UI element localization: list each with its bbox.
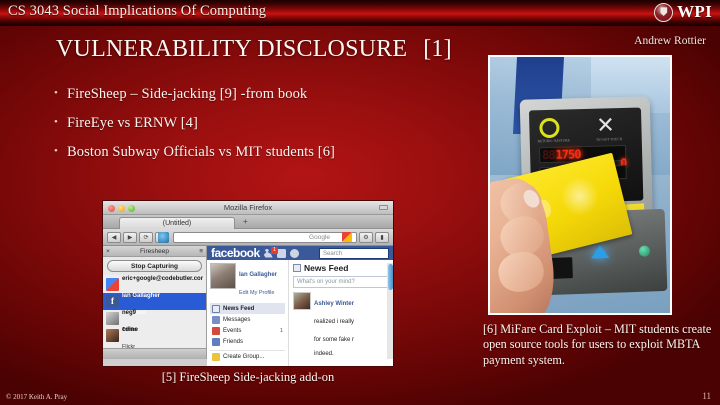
scrollbar: [387, 263, 393, 359]
bullet-dot-icon: •: [54, 117, 67, 128]
back-icon: ◀: [107, 232, 121, 243]
slide-number: 11: [702, 391, 711, 401]
list-item: cdine Flickr: [103, 327, 206, 344]
session-name: neg9: [122, 310, 136, 316]
news-feed-icon: [212, 305, 220, 313]
avatar: [293, 292, 311, 310]
yellow-circle-indicator-icon: [540, 118, 561, 139]
left-figure-caption: [5] FireSheep Side-jacking add-on: [102, 370, 394, 385]
firesheep-panel-title: Firesheep: [140, 248, 169, 255]
address-bar: Google: [173, 232, 357, 243]
feed-post: Ashley Winter realized i really for some…: [293, 292, 389, 346]
facebook-search-input: Search: [319, 248, 389, 259]
browser-tab: (Untitled): [119, 217, 235, 230]
bullet-dot-icon: •: [54, 146, 67, 157]
messages-icon: [277, 249, 286, 258]
reader-slot: [552, 257, 574, 279]
create-group-item: Create Group...: [210, 350, 285, 363]
post-line: for some fake r: [314, 337, 354, 343]
nav-item-friends: Friends: [210, 336, 285, 347]
facebook-feed: News Feed What's on your mind? Ashley Wi…: [289, 260, 393, 366]
facebook-left-nav: Ian Gallagher Edit My Profile News Feed …: [207, 260, 289, 366]
slide-title-text: VULNERABILITY DISCLOSURE: [56, 36, 407, 62]
list-item: • FireEye vs ERNW [4]: [54, 115, 474, 132]
firesheep-panel-footer: [103, 348, 206, 359]
flickr-avatar-icon: [106, 329, 119, 342]
blue-triangle-indicator-icon: [590, 245, 608, 259]
nav-item-events: Events 1: [210, 325, 285, 336]
firesheep-panel-header: × Firesheep ≡: [103, 246, 206, 257]
nav-label: News Feed: [223, 306, 254, 312]
firefox-statusbar: FoxyProxy: Disabled: [207, 366, 393, 367]
session-name: eric+google@codebutler.com: [122, 276, 203, 282]
gear-icon: ⚙: [359, 232, 373, 243]
bullet-text: Boston Subway Officials vs MIT students …: [67, 144, 335, 161]
nav-label: Friends: [223, 339, 243, 345]
finger: [495, 248, 547, 295]
nav-item-messages: Messages: [210, 314, 285, 325]
firesheep-session-list: eric+google@codebutler.com Google f Ian …: [103, 275, 206, 348]
close-icon: ×: [106, 246, 110, 257]
nav-label: Messages: [223, 317, 250, 323]
window-restore-icon: [379, 205, 388, 210]
facebook-top-bar: facebook 1 Search: [207, 246, 393, 260]
bullet-text: FireEye vs ERNW [4]: [67, 115, 198, 132]
course-title: CS 3043 Social Implications Of Computing: [8, 3, 266, 20]
bullet-text: FireSheep – Side-jacking [9] -from book: [67, 86, 307, 103]
news-feed-icon: [293, 264, 301, 272]
status-composer-input: What's on your mind?: [293, 276, 389, 288]
slide-title-reference: [1]: [423, 36, 452, 62]
google-icon: [342, 232, 352, 242]
create-group-icon: [212, 353, 220, 361]
x-indicator-icon: ✕: [597, 116, 618, 137]
calendar-icon: [212, 327, 220, 335]
firefox-window-title: Mozilla Firefox: [103, 203, 393, 212]
lcd-value: 1750: [556, 147, 581, 162]
mifare-card-reader-photo: ✕ RETURN / RESTORE DO NOT TOUCH 88 1750 …: [488, 55, 672, 315]
card-highlight: [557, 172, 603, 219]
scrollbar-thumb: [388, 264, 393, 290]
feed-title: News Feed: [304, 263, 348, 273]
indicator-label-left: RETURN / RESTORE: [538, 138, 570, 143]
facebook-page: facebook 1 Search Ian Gallagher Edit My …: [207, 246, 393, 359]
slide-title: VULNERABILITY DISCLOSURE[1]: [56, 36, 452, 63]
nav-item-news-feed: News Feed: [210, 303, 285, 314]
session-name: cdine: [122, 327, 138, 333]
post-line: realized i really: [314, 319, 354, 325]
create-group-label: Create Group...: [223, 354, 264, 360]
forward-icon: ▶: [123, 232, 137, 243]
notifications-globe-icon: [290, 249, 299, 258]
firefox-navigation-toolbar: ◀ ▶ ⟳ ⌂ Google ⚙ ▮: [103, 229, 393, 246]
presentation-slide: CS 3043 Social Implications Of Computing…: [0, 0, 720, 405]
post-footer-text: indeed.: [314, 351, 389, 357]
edit-profile-link: Edit My Profile: [239, 290, 274, 296]
firesheep-screenshot-image: Mozilla Firefox (Untitled) + ◀ ▶ ⟳ ⌂ Goo…: [102, 200, 394, 367]
profile-name: Ian Gallagher: [239, 272, 277, 278]
wpi-logo-text: WPI: [677, 2, 712, 22]
copyright-notice: © 2017 Keith A. Pray: [6, 393, 67, 401]
firefox-content-area: × Firesheep ≡ Stop Capturing eric+google…: [103, 246, 393, 359]
search-engine-label: Google: [309, 234, 330, 241]
friends-icon: [212, 338, 220, 346]
twitter-avatar-icon: [106, 312, 119, 325]
new-tab-icon: +: [243, 217, 248, 226]
wpi-logo: WPI: [654, 2, 712, 22]
post-author: Ashley Winter: [314, 301, 354, 307]
battery-icon: ▮: [375, 232, 389, 243]
session-name: Ian Gallagher: [122, 293, 160, 299]
facebook-logo: facebook: [211, 246, 260, 260]
bullet-list: • FireSheep – Side-jacking [9] -from boo…: [54, 86, 474, 173]
bullet-dot-icon: •: [54, 88, 67, 99]
menu-icon: ≡: [199, 246, 203, 257]
facebook-main: Ian Gallagher Edit My Profile News Feed …: [207, 260, 393, 366]
firesheep-sidebar: × Firesheep ≡ Stop Capturing eric+google…: [103, 246, 207, 359]
google-avatar-icon: [106, 278, 119, 291]
firefox-tabstrip: (Untitled) +: [103, 215, 393, 229]
reload-icon: ⟳: [139, 232, 153, 243]
facebook-avatar-icon: f: [106, 295, 119, 308]
right-figure-caption: [6] MiFare Card Exploit – MIT students c…: [483, 322, 715, 368]
list-item: • FireSheep – Side-jacking [9] -from boo…: [54, 86, 474, 103]
profile-summary: Ian Gallagher Edit My Profile: [210, 263, 285, 299]
messages-icon: [212, 316, 220, 324]
avatar: [210, 263, 236, 289]
nav-label: Events: [223, 328, 241, 334]
green-indicator-icon: [639, 245, 650, 256]
list-item: • Boston Subway Officials vs MIT student…: [54, 144, 474, 161]
author-name: Andrew Rottier: [634, 35, 706, 47]
wpi-crest-icon: [654, 3, 673, 22]
notification-badge: 1: [271, 247, 278, 254]
firefox-titlebar: Mozilla Firefox: [103, 201, 393, 215]
nav-badge: 1: [280, 328, 283, 334]
lcd-prefix-digits: 88: [542, 148, 555, 162]
feed-header: News Feed: [293, 263, 389, 273]
globe-favicon-icon: [158, 232, 169, 243]
indicator-label-right: DO NOT TOUCH: [597, 137, 623, 142]
